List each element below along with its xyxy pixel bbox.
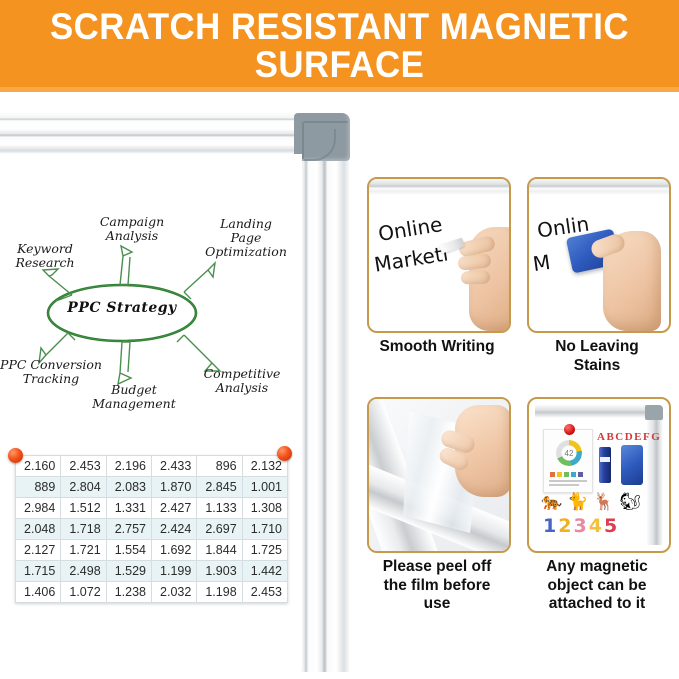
table-cell: 1.406	[16, 582, 61, 603]
diagram-node-campaign-analysis: Campaign Analysis	[82, 215, 182, 243]
table-cell: 1.133	[197, 498, 242, 519]
magnet-left	[8, 448, 23, 463]
diagram-node-landing-page-optimization: Landing Page Optimization	[190, 217, 302, 259]
mini-whiteboard: 42 ABCDEFG 🐅🐈🦌🐿 12345	[535, 405, 663, 545]
handwriting-line-1: Online	[377, 212, 444, 246]
table-cell: 889	[16, 477, 61, 498]
feature-panel-no-leaving-stains: Onlin M ʃ	[527, 177, 671, 333]
table-cell: 1.718	[61, 519, 106, 540]
table-cell: 2.984	[16, 498, 61, 519]
mini-board-top-rail	[535, 405, 655, 418]
feature-panel-peel-film	[367, 397, 511, 553]
table-cell: 1.721	[61, 540, 106, 561]
table-cell: 1.903	[197, 561, 242, 582]
header-banner: SCRATCH RESISTANT MAGNETIC SURFACE	[0, 0, 679, 92]
feature-panel-smooth-writing: Online Marketi	[367, 177, 511, 333]
table-cell: 2.757	[106, 519, 151, 540]
donut-chart-value: 42	[556, 440, 582, 466]
handwriting-line-2: M	[531, 250, 551, 276]
hand-peeling-film-icon	[441, 405, 509, 501]
table-cell: 1.199	[151, 561, 196, 582]
caption-magnetic-surface: Any magnetic object can be attached to i…	[522, 558, 672, 614]
table-cell: 2.032	[151, 582, 196, 603]
handwriting-line-2: Marketi	[373, 241, 450, 276]
table-cell: 1.844	[197, 540, 242, 561]
table-cell: 896	[197, 456, 242, 477]
table-cell: 2.196	[106, 456, 151, 477]
header-bottom-strip	[0, 87, 679, 92]
data-table: 2.1602.4532.1962.4338962.1328892.8042.08…	[15, 455, 288, 603]
table-cell: 2.048	[16, 519, 61, 540]
table-row: 2.0481.7182.7572.4242.6971.710	[16, 519, 288, 540]
legend-swatch	[557, 472, 562, 477]
table-cell: 1.238	[106, 582, 151, 603]
feature-panel-magnetic-surface: 42 ABCDEFG 🐅🐈🦌🐿 12345	[527, 397, 671, 553]
ppc-strategy-diagram: Keyword Research Campaign Analysis Landi…	[0, 200, 306, 430]
diagram-node-keyword-research: Keyword Research	[0, 242, 92, 270]
whiteboard-right-frame-rail	[300, 152, 350, 672]
table-row: 2.9841.5121.3312.4271.1331.308	[16, 498, 288, 519]
table-cell: 1.198	[197, 582, 242, 603]
table-cell: 2.127	[16, 540, 61, 561]
table-cell: 2.427	[151, 498, 196, 519]
table-cell: 1.308	[242, 498, 287, 519]
animal-magnet-icon: 🦌	[593, 493, 614, 510]
magnetic-marker-icon	[599, 447, 611, 483]
poster-legend	[550, 472, 583, 477]
table-row: 1.4061.0721.2382.0321.1982.453	[16, 582, 288, 603]
table-cell: 2.804	[61, 477, 106, 498]
legend-swatch	[550, 472, 555, 477]
number-magnet: 4	[589, 515, 604, 537]
panel-frame-strip	[529, 179, 669, 195]
table-row: 2.1271.7211.5541.6921.8441.725	[16, 540, 288, 561]
table-cell: 2.498	[61, 561, 106, 582]
panel-frame-strip	[369, 179, 509, 195]
table-cell: 1.072	[61, 582, 106, 603]
table-cell: 1.870	[151, 477, 196, 498]
diagram-node-budget-management: Budget Management	[78, 383, 190, 411]
legend-swatch	[571, 472, 576, 477]
table-cell: 1.725	[242, 540, 287, 561]
table-cell: 2.845	[197, 477, 242, 498]
data-table-body: 2.1602.4532.1962.4338962.1328892.8042.08…	[16, 456, 288, 603]
table-row: 1.7152.4981.5291.1991.9031.442	[16, 561, 288, 582]
table-cell: 1.692	[151, 540, 196, 561]
whiteboard-data-table-wrapper: 2.1602.4532.1962.4338962.1328892.8042.08…	[15, 455, 288, 603]
number-magnet: 3	[573, 515, 588, 537]
number-magnet: 1	[543, 515, 558, 537]
number-magnet: 2	[558, 515, 573, 537]
page-title: SCRATCH RESISTANT MAGNETIC SURFACE	[20, 8, 658, 84]
animal-magnet-icon: 🐈	[567, 493, 588, 510]
table-cell: 1.331	[106, 498, 151, 519]
table-cell: 1.529	[106, 561, 151, 582]
table-cell: 1.710	[242, 519, 287, 540]
legend-swatch	[564, 472, 569, 477]
whiteboard-product-image: Keyword Research Campaign Analysis Landi…	[0, 112, 354, 672]
table-cell: 2.424	[151, 519, 196, 540]
poster-text-line	[549, 484, 579, 486]
finger-shape	[461, 270, 490, 284]
number-magnets: 12345	[543, 515, 619, 537]
table-row: 2.1602.4532.1962.4338962.132	[16, 456, 288, 477]
animal-magnets: 🐅🐈🦌🐿	[541, 493, 657, 510]
table-cell: 2.083	[106, 477, 151, 498]
animal-magnet-icon: 🐅	[541, 493, 562, 510]
caption-peel-film: Please peel off the film before use	[362, 558, 512, 614]
hand-holding-marker-icon	[457, 221, 511, 331]
caption-no-leaving-stains: No Leaving Stains	[527, 338, 667, 375]
magnet-right	[277, 446, 292, 461]
whiteboard-top-frame-rail	[0, 112, 314, 154]
whiteboard-corner-cap	[294, 113, 350, 161]
table-row: 8892.8042.0831.8702.8451.001	[16, 477, 288, 498]
diagram-node-ppc-conversion-tracking: PPC Conversion Tracking	[0, 358, 112, 386]
diagram-node-competitive-analysis: Competitive Analysis	[190, 367, 294, 395]
caption-smooth-writing: Smooth Writing	[367, 338, 507, 357]
mini-board-corner-cap	[645, 405, 663, 420]
magnetic-letters: ABCDEFG	[597, 431, 661, 443]
legend-swatch	[578, 472, 583, 477]
table-cell: 2.433	[151, 456, 196, 477]
number-magnet: 5	[604, 515, 619, 537]
magnetic-poster: 42	[543, 429, 593, 493]
magnetic-eraser-icon	[621, 445, 643, 485]
table-cell: 1.001	[242, 477, 287, 498]
table-cell: 2.453	[61, 456, 106, 477]
diagram-center-label: PPC Strategy	[52, 300, 192, 316]
table-cell: 1.715	[16, 561, 61, 582]
table-cell: 1.512	[61, 498, 106, 519]
animal-magnet-icon: 🐿	[620, 493, 642, 510]
table-cell: 2.453	[242, 582, 287, 603]
table-cell: 1.442	[242, 561, 287, 582]
poster-text-line	[549, 480, 587, 482]
red-magnet-dot	[564, 424, 575, 435]
hand-holding-eraser-icon	[595, 231, 667, 331]
poster-text-lines	[549, 480, 587, 488]
table-cell: 2.697	[197, 519, 242, 540]
table-cell: 1.554	[106, 540, 151, 561]
